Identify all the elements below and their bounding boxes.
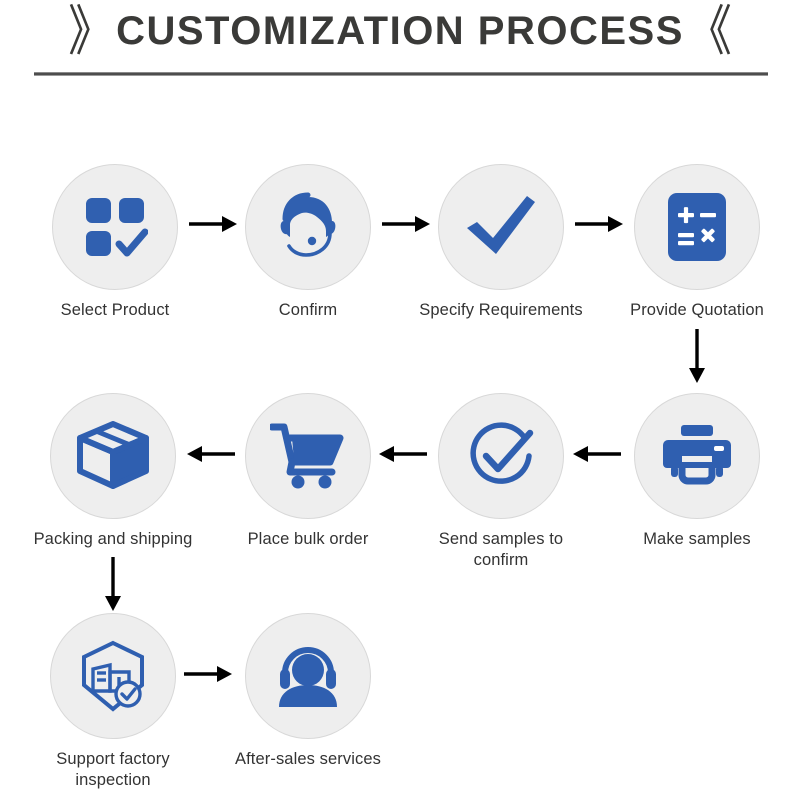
step-icon-circle	[245, 613, 371, 739]
step-icon-circle	[50, 393, 176, 519]
connector-r1-to-r2	[685, 328, 709, 384]
support-person-icon	[271, 643, 345, 709]
step-icon-circle	[52, 164, 178, 290]
step-place-bulk-order[interactable]: Place bulk order	[223, 393, 393, 550]
step-icon-circle	[634, 393, 760, 519]
step-label: Make samples	[612, 529, 782, 550]
grid-check-icon	[82, 194, 148, 260]
step-label: Provide Quotation	[612, 300, 782, 321]
step-label: Specify Requirements	[416, 300, 586, 321]
step-icon-circle	[245, 164, 371, 290]
step-confirm[interactable]: Confirm	[223, 164, 393, 321]
step-label: After-sales services	[223, 749, 393, 770]
step-packing-and-shipping[interactable]: Packing and shipping	[28, 393, 198, 550]
page-title-text: CUSTOMIZATION PROCESS	[116, 9, 684, 53]
circle-check-icon	[464, 419, 538, 493]
shield-factory-check-icon	[76, 639, 150, 713]
step-icon-circle	[438, 393, 564, 519]
checkmark-icon	[463, 192, 539, 262]
step-send-samples-confirm[interactable]: Send samples to confirm	[416, 393, 586, 571]
package-box-icon	[76, 421, 150, 491]
calculator-icon	[666, 191, 728, 263]
step-specify-requirements[interactable]: Specify Requirements	[416, 164, 586, 321]
step-make-samples[interactable]: Make samples	[612, 393, 782, 550]
step-icon-circle	[634, 164, 760, 290]
step-label: Place bulk order	[223, 529, 393, 550]
step-after-sales-services[interactable]: After-sales services	[223, 613, 393, 770]
step-icon-circle	[50, 613, 176, 739]
step-label: Send samples to confirm	[416, 529, 586, 571]
step-label: Support factory inspection	[28, 749, 198, 791]
chevron-left-decoration-icon: 《	[686, 4, 732, 58]
step-select-product[interactable]: Select Product	[30, 164, 200, 321]
page-title: 》 CUSTOMIZATION PROCESS 《	[0, 8, 800, 54]
title-divider	[34, 72, 768, 76]
step-label: Packing and shipping	[28, 529, 198, 550]
printer-icon	[662, 423, 732, 489]
connector-r2-to-r3	[101, 556, 125, 612]
step-icon-circle	[245, 393, 371, 519]
step-icon-circle	[438, 164, 564, 290]
step-label: Select Product	[30, 300, 200, 321]
customization-process-infographic: 》 CUSTOMIZATION PROCESS 《 Select Product	[0, 0, 800, 800]
shopping-cart-icon	[270, 422, 346, 490]
step-label: Confirm	[223, 300, 393, 321]
headset-agent-icon	[272, 191, 344, 263]
chevron-right-decoration-icon: 》	[68, 4, 114, 58]
step-provide-quotation[interactable]: Provide Quotation	[612, 164, 782, 321]
step-support-factory-inspection[interactable]: Support factory inspection	[28, 613, 198, 791]
